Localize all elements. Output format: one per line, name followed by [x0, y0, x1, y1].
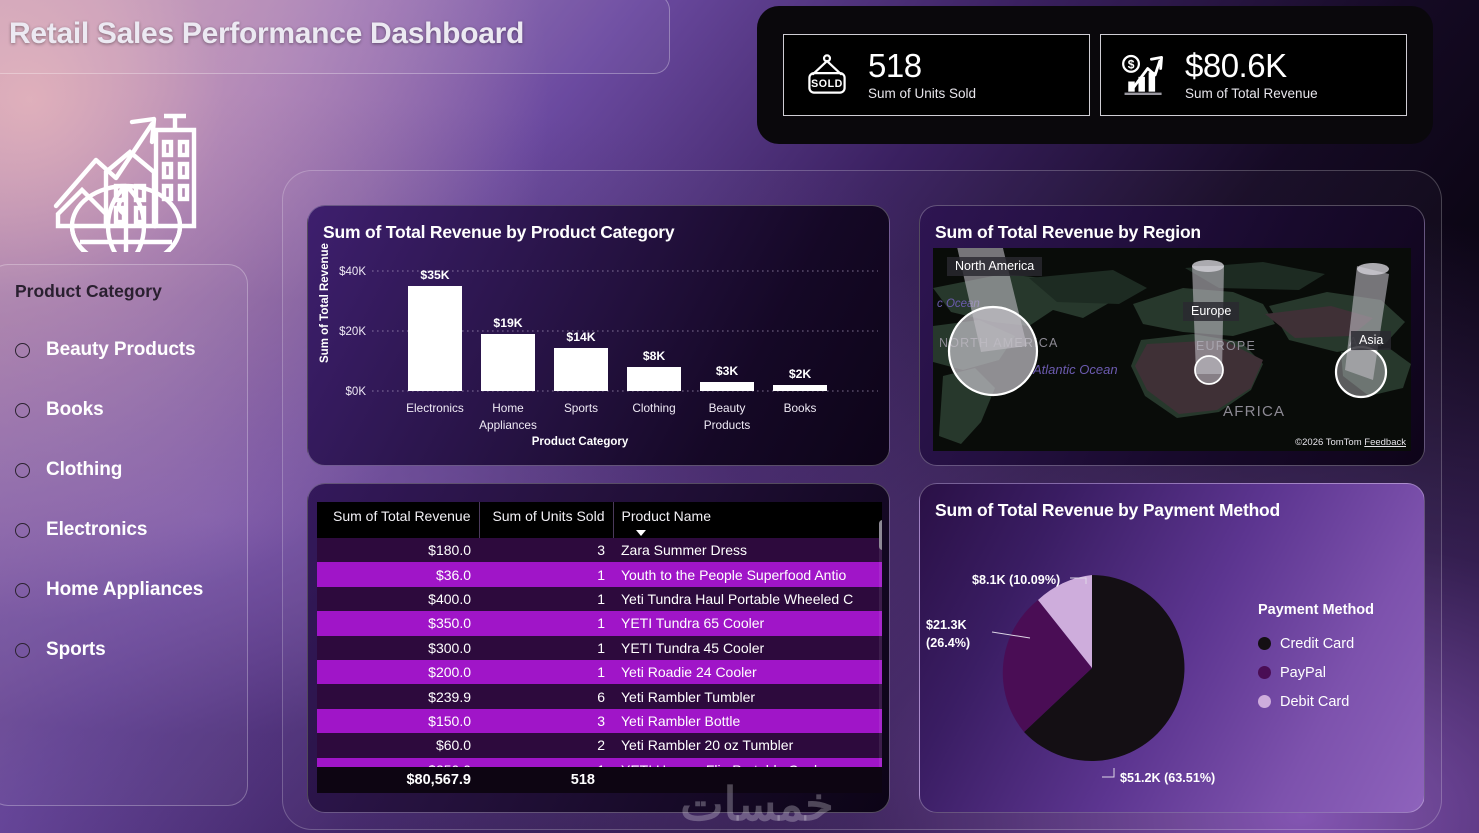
legend-item-label: Debit Card: [1280, 694, 1349, 710]
svg-text:Products: Products: [704, 418, 751, 432]
sidebar-item-books[interactable]: Books: [15, 380, 247, 440]
legend-item-label: PayPal: [1280, 665, 1326, 681]
cell-units-sold: 1: [479, 611, 613, 635]
pie-label-paypal-line1: $21.3K: [926, 618, 967, 632]
cell-total-revenue: $200.0: [317, 660, 479, 684]
svg-text:$8K: $8K: [643, 349, 666, 363]
slicer-item-label: Beauty Products: [46, 339, 195, 361]
cell-total-revenue: $150.0: [317, 709, 479, 733]
svg-text:Clothing: Clothing: [632, 401, 675, 415]
cell-total-revenue: $239.9: [317, 684, 479, 708]
column-header-total-revenue[interactable]: Sum of Total Revenue: [317, 502, 479, 538]
cell-product-name: Yeti Rambler Bottle: [613, 709, 882, 733]
kpi-card-total-revenue[interactable]: $ $80.6K Sum of Total Revenue: [1100, 34, 1407, 116]
table-vertical-scrollbar[interactable]: [879, 520, 882, 767]
pie-label-paypal-line2: (26.4%): [926, 636, 970, 650]
cell-product-name: Zara Summer Dress: [613, 538, 882, 562]
cell-units-sold: 3: [479, 538, 613, 562]
svg-text:Beauty: Beauty: [709, 401, 746, 415]
svg-text:$0K: $0K: [346, 386, 367, 398]
cell-units-sold: 1: [479, 587, 613, 611]
map-bubble-label-asia: Asia: [1351, 331, 1391, 350]
map-card[interactable]: Sum of Total Revenue by Region: [919, 205, 1425, 466]
cell-total-revenue: $60.0: [317, 733, 479, 757]
legend-swatch-icon: [1258, 695, 1271, 708]
legend-item-paypal[interactable]: PayPal: [1258, 658, 1374, 687]
legend-title: Payment Method: [1258, 602, 1374, 618]
map-attribution-text: ©2026 TomTom: [1295, 437, 1362, 448]
radio-icon[interactable]: [15, 583, 30, 598]
legend-swatch-icon: [1258, 637, 1271, 650]
sidebar-item-sports[interactable]: Sports: [15, 620, 247, 680]
table-row[interactable]: $36.01Youth to the People Superfood Anti…: [317, 562, 882, 586]
product-table[interactable]: Sum of Total Revenue Sum of Units Sold P…: [317, 502, 882, 797]
legend-item-credit-card[interactable]: Credit Card: [1258, 629, 1374, 658]
cell-product-name: Yeti Tundra Haul Portable Wheeled C: [613, 587, 882, 611]
growth-chart-city-globe-icon: [44, 86, 206, 252]
bar-chart-plot[interactable]: $40K $20K $0K Sum of Total Revenue $35K …: [308, 206, 890, 466]
sidebar-item-electronics[interactable]: Electronics: [15, 500, 247, 560]
slicer-item-label: Books: [46, 399, 104, 421]
radio-icon[interactable]: [15, 403, 30, 418]
radio-icon[interactable]: [15, 523, 30, 538]
slicer-item-label: Clothing: [46, 459, 122, 481]
sidebar-item-beauty-products[interactable]: Beauty Products: [15, 320, 247, 380]
cell-product-name: Youth to the People Superfood Antio: [613, 562, 882, 586]
sidebar-item-home-appliances[interactable]: Home Appliances: [15, 560, 247, 620]
legend-item-label: Credit Card: [1280, 636, 1354, 652]
map-bubble-label-europe: Europe: [1183, 302, 1239, 321]
cell-units-sold: 1: [479, 660, 613, 684]
table-row[interactable]: $350.01YETI Tundra 65 Cooler: [317, 611, 882, 635]
cell-product-name: YETI Tundra 45 Cooler: [613, 636, 882, 660]
kpi-label: Sum of Units Sold: [868, 86, 976, 101]
kpi-value: 518: [868, 49, 976, 84]
map-title: Sum of Total Revenue by Region: [935, 222, 1201, 243]
table-row[interactable]: $200.01Yeti Roadie 24 Cooler: [317, 660, 882, 684]
table-row[interactable]: $239.96Yeti Rambler Tumbler: [317, 684, 882, 708]
slicer-item-label: Sports: [46, 639, 106, 661]
svg-text:$: $: [1128, 58, 1135, 72]
svg-text:Home: Home: [492, 401, 524, 415]
cell-product-name: Yeti Roadie 24 Cooler: [613, 660, 882, 684]
table-row[interactable]: $250.01YETI Hopper Flip Portable Cooler: [317, 758, 882, 767]
svg-text:Appliances: Appliances: [479, 418, 537, 432]
svg-text:SOLD: SOLD: [811, 78, 843, 90]
kpi-value: $80.6K: [1185, 49, 1318, 84]
map-attribution: ©2026 TomTom Feedback: [1295, 437, 1406, 448]
sort-desc-icon: [636, 530, 646, 536]
page-title: Retail Sales Performance Dashboard: [9, 17, 524, 51]
cell-units-sold: 3: [479, 709, 613, 733]
radio-icon[interactable]: [15, 463, 30, 478]
table-row[interactable]: $150.03Yeti Rambler Bottle: [317, 709, 882, 733]
kpi-label: Sum of Total Revenue: [1185, 86, 1318, 101]
cell-units-sold: 1: [479, 562, 613, 586]
total-revenue-value: $80,567.9: [317, 772, 479, 788]
cell-product-name: YETI Tundra 65 Cooler: [613, 611, 882, 635]
sold-tag-icon: SOLD: [800, 48, 854, 102]
pie-chart-plot[interactable]: $8.1K (10.09%) $21.3K (26.4%) $51.2K (63…: [920, 512, 1260, 807]
column-header-units-sold[interactable]: Sum of Units Sold: [479, 502, 613, 538]
dashboard-canvas: Retail Sales Performance Dashboard: [0, 0, 1479, 833]
product-table-card[interactable]: Sum of Total Revenue Sum of Units Sold P…: [307, 483, 890, 813]
region-bubble-columns[interactable]: [933, 248, 1411, 451]
cell-total-revenue: $300.0: [317, 636, 479, 660]
slicer-item-label: Home Appliances: [46, 579, 203, 601]
cell-total-revenue: $36.0: [317, 562, 479, 586]
svg-text:$14K: $14K: [566, 330, 595, 344]
pie-legend: Payment Method Credit Card PayPal Debit …: [1258, 602, 1374, 716]
cell-units-sold: 1: [479, 758, 613, 767]
svg-text:$3K: $3K: [716, 364, 739, 378]
svg-text:Product Category: Product Category: [532, 436, 629, 448]
svg-text:Electronics: Electronics: [406, 401, 464, 415]
bar-chart-card[interactable]: Sum of Total Revenue by Product Category…: [307, 205, 890, 466]
svg-text:$35K: $35K: [420, 268, 449, 282]
table-viewport[interactable]: Sum of Total Revenue Sum of Units Sold P…: [317, 502, 882, 767]
map-bubble-label-north-america: North America: [947, 257, 1042, 276]
kpi-strip: SOLD 518 Sum of Units Sold $: [757, 6, 1433, 144]
radio-icon[interactable]: [15, 343, 30, 358]
svg-text:Sports: Sports: [564, 401, 598, 415]
table-row[interactable]: $400.01Yeti Tundra Haul Portable Wheeled…: [317, 587, 882, 611]
svg-text:$20K: $20K: [339, 326, 366, 338]
total-units-value: 518: [479, 772, 613, 788]
column-header-product-name[interactable]: Product Name: [613, 502, 882, 538]
cell-product-name: Yeti Rambler Tumbler: [613, 684, 882, 708]
cell-total-revenue: $250.0: [317, 758, 479, 767]
sidebar-item-clothing[interactable]: Clothing: [15, 440, 247, 500]
cell-units-sold: 1: [479, 636, 613, 660]
slicer-item-label: Electronics: [46, 519, 147, 541]
scrollbar-thumb[interactable]: [879, 520, 882, 550]
cell-product-name: Yeti Rambler 20 oz Tumbler: [613, 733, 882, 757]
svg-text:Sum of Total Revenue: Sum of Total Revenue: [319, 243, 331, 363]
cell-units-sold: 2: [479, 733, 613, 757]
legend-item-debit-card[interactable]: Debit Card: [1258, 687, 1374, 716]
cell-total-revenue: $350.0: [317, 611, 479, 635]
map-feedback-link[interactable]: Feedback: [1364, 437, 1406, 448]
pie-label-credit-card: $51.2K (63.51%): [1120, 771, 1215, 785]
svg-text:Books: Books: [784, 401, 817, 415]
region-map[interactable]: NORTH AMERICA EUROPE ASIA AFRICA c Ocean…: [933, 248, 1411, 451]
table-row[interactable]: $180.03Zara Summer Dress: [317, 538, 882, 562]
svg-text:$2K: $2K: [789, 367, 812, 381]
product-category-slicer: Product Category Beauty Products Books C…: [0, 264, 248, 806]
svg-text:$40K: $40K: [339, 266, 366, 278]
table-row[interactable]: $300.01YETI Tundra 45 Cooler: [317, 636, 882, 660]
cell-total-revenue: $400.0: [317, 587, 479, 611]
svg-text:$19K: $19K: [493, 316, 522, 330]
radio-icon[interactable]: [15, 643, 30, 658]
dashboard-title-bar: Retail Sales Performance Dashboard: [0, 0, 670, 74]
dollar-growth-bars-icon: $: [1117, 48, 1171, 102]
table-total-row: $80,567.9 518: [317, 767, 882, 793]
legend-swatch-icon: [1258, 666, 1271, 679]
cell-total-revenue: $180.0: [317, 538, 479, 562]
cell-product-name: YETI Hopper Flip Portable Cooler: [613, 758, 882, 767]
cell-units-sold: 6: [479, 684, 613, 708]
pie-chart-card[interactable]: Sum of Total Revenue by Payment Method $…: [919, 483, 1425, 813]
table-header-row: Sum of Total Revenue Sum of Units Sold P…: [317, 502, 882, 538]
slicer-title: Product Category: [15, 281, 247, 302]
kpi-card-units-sold[interactable]: SOLD 518 Sum of Units Sold: [783, 34, 1090, 116]
table-row[interactable]: $60.02Yeti Rambler 20 oz Tumbler: [317, 733, 882, 757]
pie-label-debit-card: $8.1K (10.09%): [972, 573, 1060, 587]
